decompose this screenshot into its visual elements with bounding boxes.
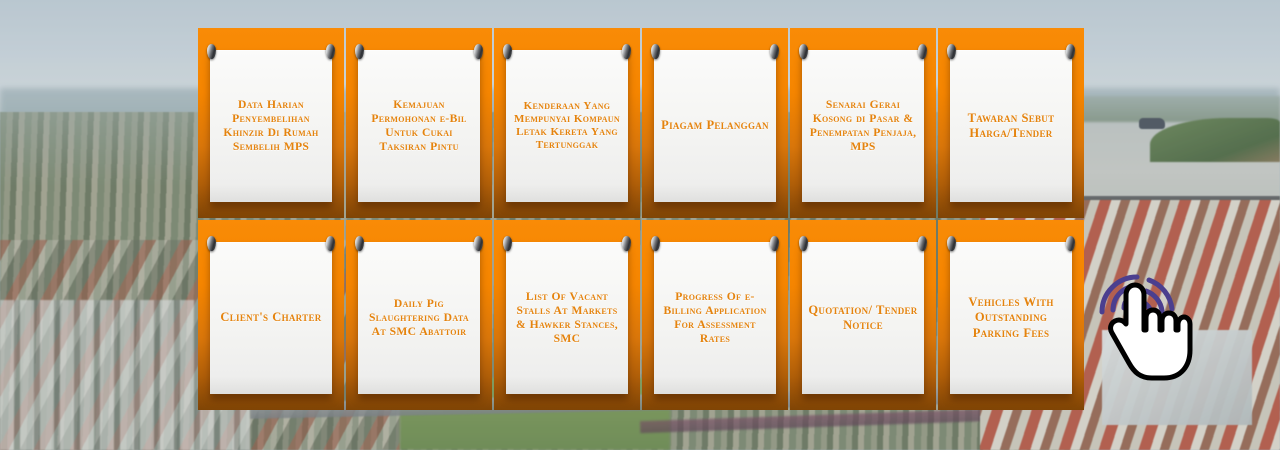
pin-icon-right [918, 236, 927, 251]
pin-icon-right [770, 44, 779, 59]
pin-icon-left [207, 236, 216, 251]
service-card-vehicles-outstanding-parking-fees[interactable]: Vehicles With Outstanding Parking Fees [938, 220, 1084, 410]
service-card-quotation-tender-notice[interactable]: Quotation/ Tender Notice [790, 220, 936, 410]
card-paper: Data Harian Penyembelihan Khinzir Di Rum… [210, 50, 332, 202]
pin-icon-left [503, 44, 512, 59]
service-card-list-of-vacant-stalls[interactable]: List Of Vacant Stalls At Markets & Hawke… [494, 220, 640, 410]
pin-icon-left [355, 44, 364, 59]
card-label: Tawaran Sebut Harga/Tender [955, 111, 1067, 142]
card-label: Kemajuan Permohonan e-Bil Untuk Cukai Ta… [363, 98, 475, 154]
card-label: Client's Charter [220, 310, 321, 325]
card-paper: Daily Pig Slaughtering Data At SMC Abatt… [358, 242, 480, 394]
service-card-grid: Data Harian Penyembelihan Khinzir Di Rum… [198, 28, 1082, 420]
pin-icon-left [947, 236, 956, 251]
service-card-daily-pig-slaughtering-data[interactable]: Daily Pig Slaughtering Data At SMC Abatt… [346, 220, 492, 410]
pin-icon-right [474, 236, 483, 251]
pin-icon-right [622, 44, 631, 59]
pin-icon-left [799, 236, 808, 251]
pin-icon-left [799, 44, 808, 59]
service-card-data-harian-penyembelihan[interactable]: Data Harian Penyembelihan Khinzir Di Rum… [198, 28, 344, 218]
card-label: List Of Vacant Stalls At Markets & Hawke… [511, 290, 623, 346]
service-card-clients-charter[interactable]: Client's Charter [198, 220, 344, 410]
pin-icon-right [474, 44, 483, 59]
card-paper: Progress Of e-Billing Application For As… [654, 242, 776, 394]
card-label: Quotation/ Tender Notice [807, 303, 919, 334]
service-card-kenderaan-kompaun-letak-kereta[interactable]: Kenderaan Yang Mempunyai Kompaun Letak K… [494, 28, 640, 218]
card-paper: List Of Vacant Stalls At Markets & Hawke… [506, 242, 628, 394]
service-card-piagam-pelanggan[interactable]: Piagam Pelanggan [642, 28, 788, 218]
pin-icon-left [355, 236, 364, 251]
card-label: Data Harian Penyembelihan Khinzir Di Rum… [215, 98, 327, 154]
card-label: Vehicles With Outstanding Parking Fees [955, 295, 1067, 341]
card-label: Progress Of e-Billing Application For As… [659, 290, 771, 346]
card-paper: Client's Charter [210, 242, 332, 394]
pin-icon-right [770, 236, 779, 251]
pin-icon-left [947, 44, 956, 59]
card-label: Piagam Pelanggan [661, 118, 769, 133]
pin-icon-left [207, 44, 216, 59]
pin-icon-right [326, 44, 335, 59]
service-card-progress-of-ebilling[interactable]: Progress Of e-Billing Application For As… [642, 220, 788, 410]
card-paper: Vehicles With Outstanding Parking Fees [950, 242, 1072, 394]
pin-icon-left [651, 44, 660, 59]
card-paper: Piagam Pelanggan [654, 50, 776, 202]
pin-icon-right [1066, 236, 1075, 251]
service-card-tawaran-sebut-harga-tender[interactable]: Tawaran Sebut Harga/Tender [938, 28, 1084, 218]
card-label: Kenderaan Yang Mempunyai Kompaun Letak K… [511, 100, 623, 151]
card-label: Senarai Gerai Kosong di Pasar & Penempat… [807, 98, 919, 154]
card-paper: Senarai Gerai Kosong di Pasar & Penempat… [802, 50, 924, 202]
pin-icon-left [503, 236, 512, 251]
pin-icon-left [651, 236, 660, 251]
pin-icon-right [622, 236, 631, 251]
card-paper: Quotation/ Tender Notice [802, 242, 924, 394]
pin-icon-right [1066, 44, 1075, 59]
card-paper: Tawaran Sebut Harga/Tender [950, 50, 1072, 202]
pin-icon-right [326, 236, 335, 251]
pin-icon-right [918, 44, 927, 59]
service-card-kemajuan-permohonan-ebil[interactable]: Kemajuan Permohonan e-Bil Untuk Cukai Ta… [346, 28, 492, 218]
card-paper: Kenderaan Yang Mempunyai Kompaun Letak K… [506, 50, 628, 202]
service-card-senarai-gerai-kosong[interactable]: Senarai Gerai Kosong di Pasar & Penempat… [790, 28, 936, 218]
card-paper: Kemajuan Permohonan e-Bil Untuk Cukai Ta… [358, 50, 480, 202]
card-label: Daily Pig Slaughtering Data At SMC Abatt… [363, 297, 475, 339]
